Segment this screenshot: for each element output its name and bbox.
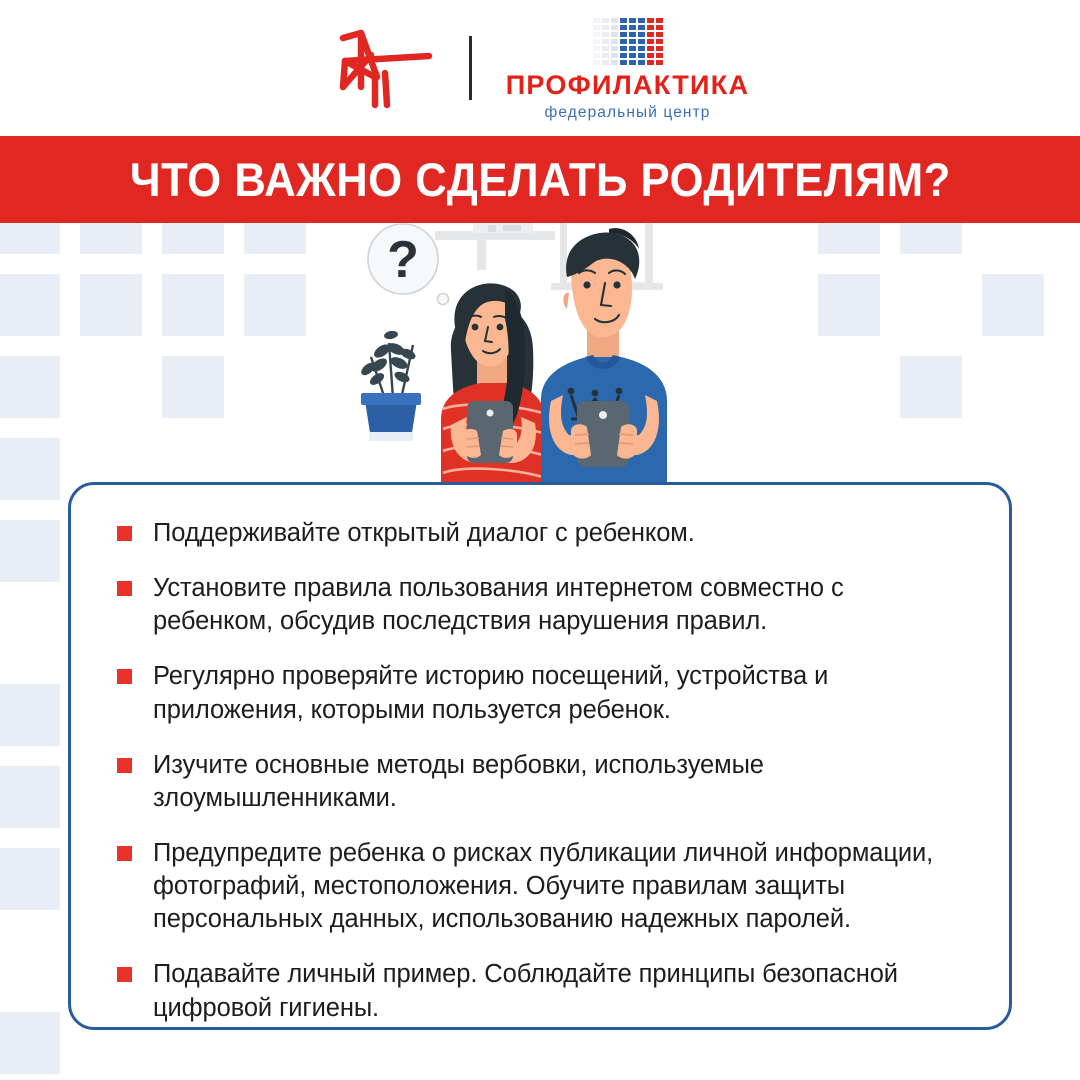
brand-flag-cell — [629, 32, 636, 37]
brand-flag-cell — [611, 32, 618, 37]
brand-flag-cell — [656, 39, 663, 44]
list-item-text: Поддерживайте открытый диалог с ребенком… — [153, 517, 695, 550]
list-item-text: Регулярно проверяйте историю посещений, … — [153, 660, 943, 726]
brand-flag-cell — [638, 18, 645, 23]
bullet-square-icon — [117, 758, 132, 773]
brand-flag-cell — [647, 46, 654, 51]
background-grid-cell — [0, 438, 60, 500]
brand-flag-cell — [602, 39, 609, 44]
brand-flag-grid-icon — [593, 18, 663, 65]
chair-logo-icon — [331, 25, 435, 111]
brand-flag-cell — [602, 25, 609, 30]
brand-flag-cell — [620, 53, 627, 58]
brand-flag-cell — [602, 32, 609, 37]
background-grid-cell — [0, 520, 60, 582]
list-item-text: Изучите основные методы вербовки, исполь… — [153, 749, 943, 815]
brand-flag-cell — [647, 18, 654, 23]
title-banner: ЧТО ВАЖНО СДЕЛАТЬ РОДИТЕЛЯМ? — [0, 136, 1080, 223]
brand-name: ПРОФИЛАКТИКА — [506, 72, 750, 99]
brand-flag-cell — [593, 18, 600, 23]
list-item: Регулярно проверяйте историю посещений, … — [117, 660, 963, 726]
brand-flag-cell — [647, 53, 654, 58]
brand-flag-cell — [638, 53, 645, 58]
brand-flag-cell — [656, 53, 663, 58]
brand-flag-cell — [629, 25, 636, 30]
background-grid-cell — [162, 274, 224, 336]
brand-flag-cell — [602, 53, 609, 58]
brand-flag-cell — [620, 25, 627, 30]
brand-flag-cell — [656, 25, 663, 30]
brand-flag-cell — [620, 32, 627, 37]
brand-flag-cell — [611, 18, 618, 23]
list-item: Поддерживайте открытый диалог с ребенком… — [117, 517, 963, 550]
background-grid-cell — [0, 848, 60, 910]
brand-flag-cell — [638, 32, 645, 37]
brand-flag-cell — [620, 46, 627, 51]
bullet-square-icon — [117, 846, 132, 861]
page-title: ЧТО ВАЖНО СДЕЛАТЬ РОДИТЕЛЯМ? — [130, 152, 951, 207]
brand-flag-cell — [647, 39, 654, 44]
background-grid-cell — [900, 223, 962, 254]
background-grid-cell — [80, 223, 142, 254]
background-grid-cell — [80, 274, 142, 336]
brand-subtitle: федеральный центр — [544, 105, 710, 121]
bullet-square-icon — [117, 669, 132, 684]
brand-flag-cell — [620, 39, 627, 44]
brand-flag-cell — [611, 46, 618, 51]
brand-flag-cell — [638, 60, 645, 65]
header-logo-bar: ПРОФИЛАКТИКА федеральный центр — [0, 0, 1080, 136]
brand-flag-cell — [593, 25, 600, 30]
background-grid-cell — [0, 684, 60, 746]
brand-flag-cell — [656, 46, 663, 51]
potted-plant — [359, 330, 421, 441]
list-item: Подавайте личный пример. Соблюдайте прин… — [117, 958, 963, 1024]
brand-flag-cell — [620, 60, 627, 65]
brand-flag-cell — [629, 39, 636, 44]
background-grid-cell — [0, 356, 60, 418]
bullet-square-icon — [117, 581, 132, 596]
brand-flag-cell — [593, 60, 600, 65]
illustration-svg: ? — [355, 223, 725, 493]
brand-flag-cell — [638, 25, 645, 30]
poster-canvas: ПРОФИЛАКТИКА федеральный центр ЧТО ВАЖНО… — [0, 0, 1080, 1080]
brand-flag-cell — [647, 25, 654, 30]
background-grid-cell — [0, 223, 60, 254]
list-item: Установите правила пользования интернето… — [117, 572, 963, 638]
background-grid-cell — [818, 274, 880, 336]
svg-text:?: ? — [387, 231, 419, 289]
brand-flag-cell — [620, 18, 627, 23]
bullet-square-icon — [117, 967, 132, 982]
brand-flag-cell — [611, 60, 618, 65]
brand-flag-cell — [629, 60, 636, 65]
brand-flag-cell — [647, 32, 654, 37]
list-item: Изучите основные методы вербовки, исполь… — [117, 749, 963, 815]
background-grid-cell — [0, 766, 60, 828]
brand-flag-cell — [629, 46, 636, 51]
brand-flag-cell — [611, 25, 618, 30]
brand-flag-cell — [629, 53, 636, 58]
recommendations-card: Поддерживайте открытый диалог с ребенком… — [68, 482, 1012, 1030]
bullet-square-icon — [117, 526, 132, 541]
brand-flag-cell — [593, 39, 600, 44]
list-item: Предупредите ребенка о рисках публикации… — [117, 837, 963, 936]
parents-illustration: ? — [355, 223, 725, 493]
background-grid-cell — [900, 356, 962, 418]
brand-flag-cell — [638, 39, 645, 44]
brand-flag-cell — [593, 32, 600, 37]
list-item-text: Установите правила пользования интернето… — [153, 572, 943, 638]
logo-divider — [469, 36, 472, 100]
brand-flag-cell — [593, 53, 600, 58]
brand-flag-cell — [656, 18, 663, 23]
brand-flag-cell — [629, 18, 636, 23]
background-grid-cell — [818, 223, 880, 254]
background-grid-cell — [162, 356, 224, 418]
brand-flag-cell — [638, 46, 645, 51]
background-grid-cell — [982, 274, 1044, 336]
logo-row: ПРОФИЛАКТИКА федеральный центр — [331, 16, 750, 121]
background-grid-cell — [162, 223, 224, 254]
brand-block: ПРОФИЛАКТИКА федеральный центр — [506, 16, 750, 121]
list-item-text: Подавайте личный пример. Соблюдайте прин… — [153, 958, 943, 1024]
brand-flag-cell — [602, 60, 609, 65]
brand-flag-cell — [656, 60, 663, 65]
background-grid-cell — [0, 1012, 60, 1074]
brand-flag-cell — [602, 18, 609, 23]
background-grid-cell — [0, 274, 60, 336]
brand-flag-cell — [656, 32, 663, 37]
background-grid-cell — [244, 274, 306, 336]
woman-figure — [441, 283, 545, 493]
list-item-text: Предупредите ребенка о рисках публикации… — [153, 837, 943, 936]
brand-flag-cell — [647, 60, 654, 65]
brand-flag-cell — [611, 53, 618, 58]
brand-flag-cell — [593, 46, 600, 51]
brand-flag-cell — [611, 39, 618, 44]
background-grid-cell — [244, 223, 306, 254]
recommendations-list: Поддерживайте открытый диалог с ребенком… — [117, 517, 963, 1025]
brand-flag-cell — [602, 46, 609, 51]
